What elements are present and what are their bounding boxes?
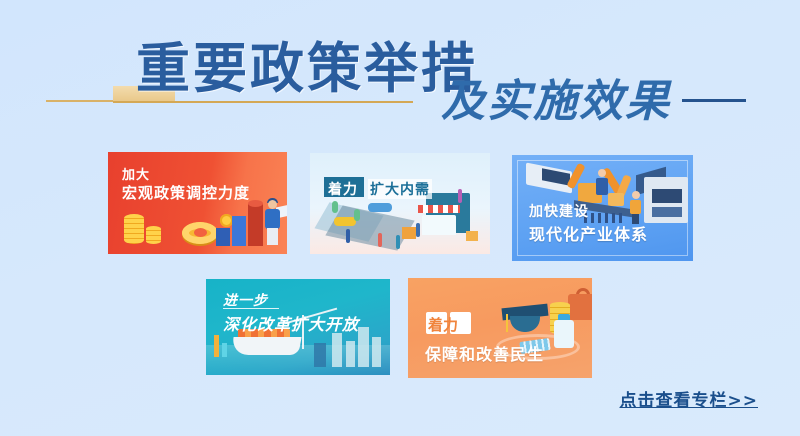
worker-2-head <box>632 191 640 199</box>
worker-1-head <box>598 169 606 177</box>
worker-2-body <box>630 200 641 214</box>
bar-chart-bar-1 <box>216 228 230 246</box>
card-expand-domestic-demand[interactable]: 着力 扩大内需 <box>310 153 490 254</box>
gold-thin-rule <box>46 100 116 102</box>
poster-header: 重要政策举措 及实施效果 <box>0 0 800 140</box>
card-livelihood-line1: 着力 <box>428 314 458 335</box>
shop-awning <box>418 205 460 213</box>
card-macro-policy-line1: 加大 <box>122 164 150 183</box>
growth-bar-cyan <box>222 343 227 357</box>
car-blue-icon <box>368 203 392 212</box>
card-livelihood-line2: 保障和改善民生 <box>425 341 544 365</box>
parcel-icon-1 <box>402 227 416 239</box>
crate-icon-2 <box>608 193 624 206</box>
building-5 <box>314 343 326 367</box>
page-title-sub: 及实施效果 <box>441 78 671 126</box>
bar-chart-bar-3 <box>248 204 263 246</box>
blue-accent-rule <box>682 99 746 102</box>
card-industrial-line2: 现代化产业体系 <box>529 221 648 245</box>
pedestrian-4 <box>416 223 420 237</box>
bar-chart-bar-3-top <box>248 200 263 207</box>
pedestrian-5 <box>458 189 462 203</box>
coin-stack-small-icon <box>146 226 161 244</box>
person-head <box>268 200 277 209</box>
cargo-ship-icon <box>230 337 301 355</box>
building-4 <box>372 337 381 367</box>
factory-worker-2 <box>630 191 641 221</box>
tree-icon-2 <box>354 209 360 221</box>
pedestrian-2 <box>378 233 382 247</box>
machine-right-panel-2 <box>652 207 682 217</box>
medicine-bottle-icon <box>554 320 574 348</box>
card-macro-policy-line2: 宏观政策调控力度 <box>122 182 250 203</box>
building-3 <box>358 327 369 367</box>
gold-underline-rule <box>113 101 413 103</box>
tree-icon-1 <box>332 201 338 213</box>
person-body <box>265 209 280 229</box>
page-title-main: 重要政策举措 <box>136 40 478 98</box>
person-legs <box>267 228 278 245</box>
car-yellow-icon <box>334 217 356 226</box>
card-expand-demand-line1: 着力 <box>328 179 358 199</box>
card-improve-livelihood[interactable]: 着力 保障和改善民生 <box>408 278 592 378</box>
card-reform-line1: 进一步 <box>223 290 268 310</box>
growth-bar-yellow <box>214 335 219 357</box>
card-macro-policy[interactable]: 加大 宏观政策调控力度 <box>108 152 287 254</box>
poster-stage: 重要政策举措 及实施效果 加大 宏观政策调控力度 <box>0 0 800 436</box>
building-2 <box>346 341 355 367</box>
graduation-cap-base <box>510 316 540 332</box>
card-deepen-reform-open-up[interactable]: 进一步 深化改革扩大开放 <box>206 279 390 375</box>
briefcase-icon <box>568 294 592 320</box>
card-modern-industrial-system[interactable]: 加快建设 现代化产业体系 <box>512 155 693 261</box>
coin-stack-icon <box>124 214 144 244</box>
factory-worker-1 <box>596 169 608 195</box>
card-expand-demand-line2: 扩大内需 <box>368 179 432 199</box>
shop-window <box>422 215 456 235</box>
worker-1-body <box>596 178 608 195</box>
machine-right-panel-1 <box>652 189 682 203</box>
pedestrian-3 <box>396 235 400 249</box>
card-industrial-line1: 加快建设 <box>529 201 589 221</box>
building-1 <box>332 333 342 367</box>
graduation-cap-tassel <box>506 314 508 332</box>
pedestrian-1 <box>346 229 350 243</box>
bar-chart-bar-2 <box>232 216 246 246</box>
gold-ring-hole <box>194 228 207 237</box>
view-column-link[interactable]: 点击查看专栏>> <box>620 386 759 411</box>
card-reform-line2: 深化改革扩大开放 <box>223 311 359 335</box>
parcel-icon-2 <box>466 231 478 241</box>
